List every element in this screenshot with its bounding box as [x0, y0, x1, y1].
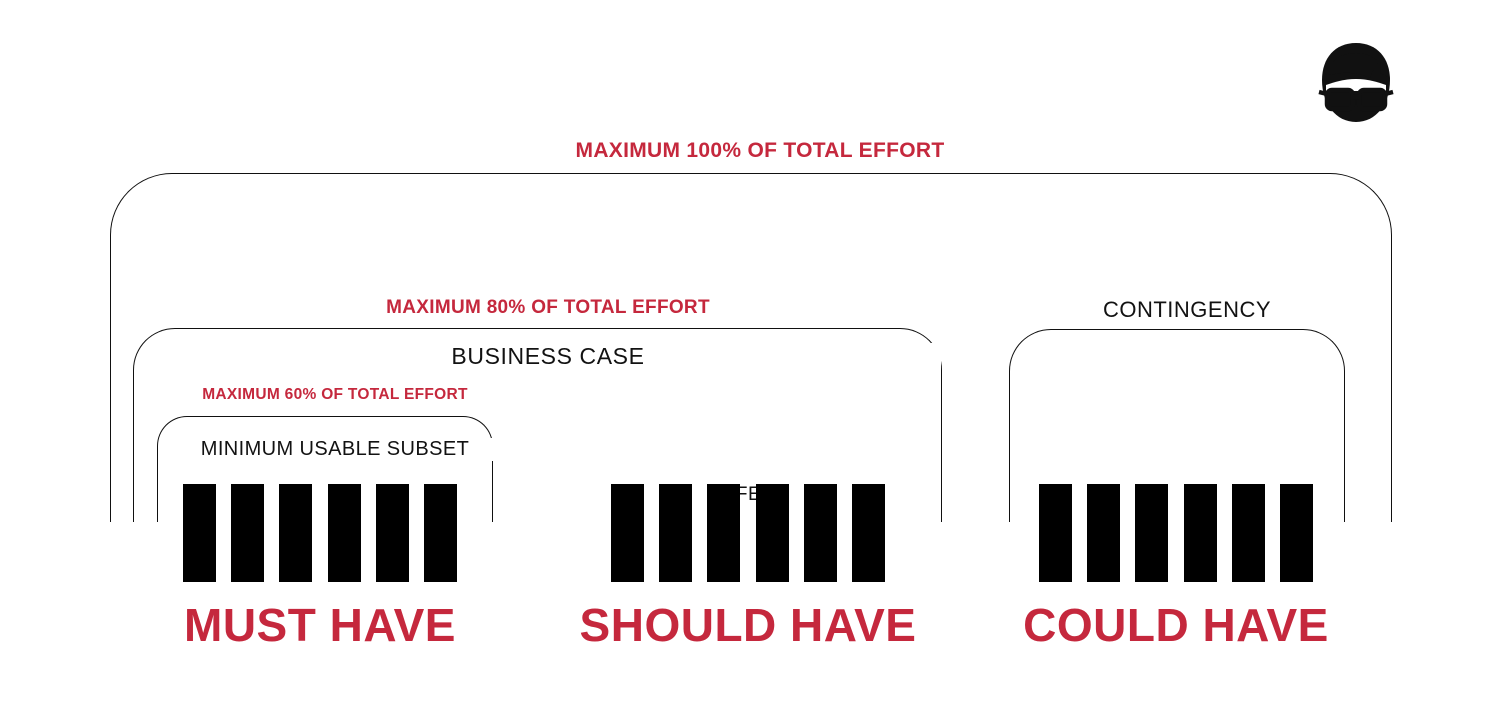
bar-group-could-have	[1039, 484, 1313, 582]
bar	[659, 484, 692, 582]
bar	[1280, 484, 1313, 582]
bar	[611, 484, 644, 582]
bar	[1039, 484, 1072, 582]
bar	[424, 484, 457, 582]
headline-could-have: COULD HAVE	[999, 597, 1353, 653]
bar-group-should-have	[611, 484, 885, 582]
label-maximum-100-percent: MAXIMUM 100% OF TOTAL EFFORT	[0, 139, 1500, 163]
diagram-canvas: MAXIMUM 100% OF TOTAL EFFORT MAXIMUM 80%…	[0, 0, 1500, 708]
bar	[1135, 484, 1168, 582]
headline-must-have: MUST HAVE	[143, 597, 497, 653]
bar	[231, 484, 264, 582]
bar	[1232, 484, 1265, 582]
bar	[183, 484, 216, 582]
bar	[804, 484, 837, 582]
bar	[852, 484, 885, 582]
label-maximum-60-percent: MAXIMUM 60% OF TOTAL EFFORT	[160, 386, 510, 404]
bar	[1087, 484, 1120, 582]
bar	[707, 484, 740, 582]
label-contingency: CONTINGENCY	[1009, 297, 1365, 323]
label-business-case: BUSINESS CASE	[155, 343, 941, 370]
label-minimum-usable-subset: MINIMUM USABLE SUBSET	[160, 438, 510, 461]
bar	[376, 484, 409, 582]
bar	[328, 484, 361, 582]
headline-should-have: SHOULD HAVE	[571, 597, 925, 653]
bar-group-must-have	[183, 484, 457, 582]
bar	[1184, 484, 1217, 582]
label-maximum-80-percent: MAXIMUM 80% OF TOTAL EFFORT	[155, 297, 941, 319]
person-with-glasses-avatar-icon	[1313, 42, 1399, 124]
bar	[279, 484, 312, 582]
bar	[756, 484, 789, 582]
